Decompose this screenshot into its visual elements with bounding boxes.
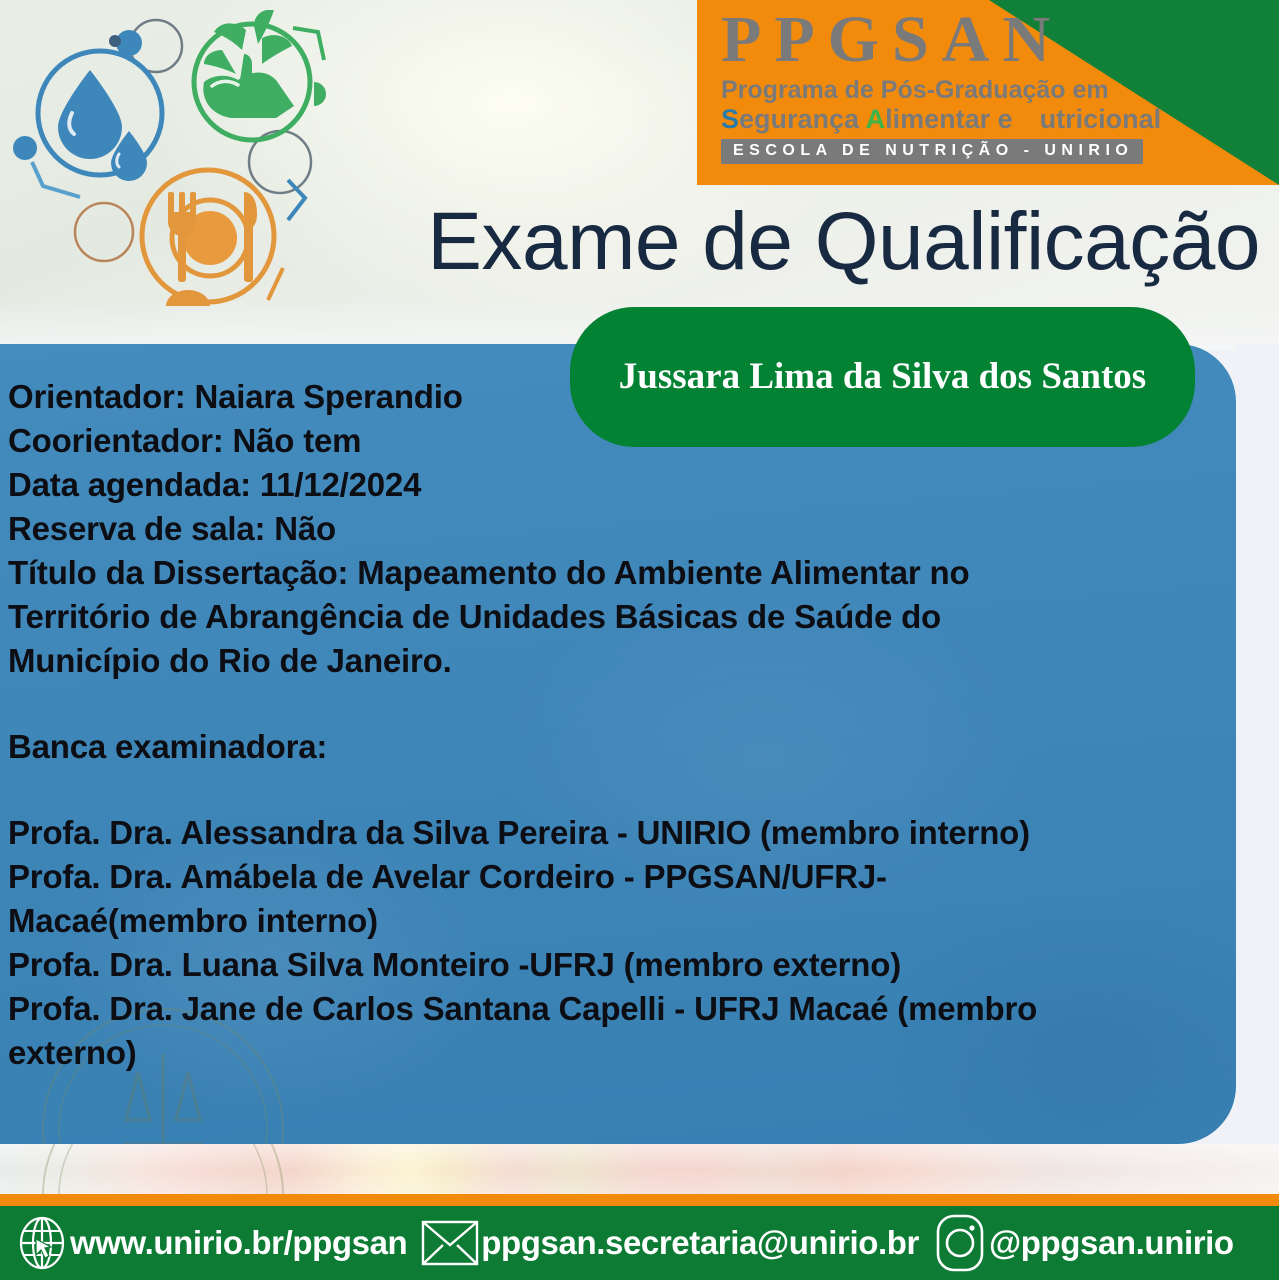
logo-text-nutricional: utricional — [1040, 104, 1162, 134]
footer-bar: www.unirio.br/ppgsan ppgsan.secretaria@u… — [0, 1206, 1279, 1280]
ppgsan-logo-inner: PPGSAN Programa de Pós-Graduação em Segu… — [721, 4, 1141, 164]
footer-website-text: www.unirio.br/ppgsan — [70, 1224, 407, 1262]
envelope-icon — [419, 1216, 481, 1270]
water-drop-icon — [38, 51, 162, 181]
footer-email-item[interactable]: ppgsan.secretaria@unirio.br — [419, 1216, 919, 1270]
detail-coorientador: Coorientador: Não tem — [8, 419, 1048, 463]
logo-letter-n-hidden: N — [1020, 104, 1040, 134]
decor-dot-2 — [109, 35, 121, 47]
logo-text-seguranca: egurança — [739, 104, 866, 134]
plate-cutlery-icon — [142, 170, 274, 306]
details-block: Orientador: Naiara Sperandio Coorientado… — [8, 375, 1048, 1075]
ppgsan-escola-bar: ESCOLA DE NUTRIÇÃO - UNIRIO — [721, 139, 1143, 164]
logo-letter-a: A — [866, 104, 886, 134]
detail-reserva-sala: Reserva de sala: Não — [8, 507, 1048, 551]
detail-data-agendada: Data agendada: 11/12/2024 — [8, 463, 1048, 507]
text-spacer-1 — [8, 683, 1048, 725]
footer-email-text: ppgsan.secretaria@unirio.br — [481, 1224, 919, 1262]
ppgsan-tagline-line1: Programa de Pós-Graduação em — [721, 76, 1141, 104]
footer-instagram-item[interactable]: @ppgsan.unirio — [931, 1212, 1234, 1274]
banca-heading: Banca examinadora: — [8, 725, 1048, 769]
logo-text-alimentar: limentar e — [885, 104, 1020, 134]
sustainability-icon-cluster — [8, 10, 378, 330]
ppgsan-acronym: PPGSAN — [721, 4, 1141, 76]
instagram-icon — [931, 1212, 989, 1274]
footer-orange-rule — [0, 1194, 1279, 1206]
banca-member-2: Profa. Dra. Amábela de Avelar Cordeiro -… — [8, 855, 1048, 943]
page-title: Exame de Qualificação — [380, 196, 1260, 288]
globe-icon — [14, 1215, 70, 1271]
decor-line-2 — [288, 180, 305, 220]
footer-website-item[interactable]: www.unirio.br/ppgsan — [14, 1215, 407, 1271]
hand-plant-icon — [194, 10, 310, 140]
banca-member-3: Profa. Dra. Luana Silva Monteiro -UFRJ (… — [8, 943, 1048, 987]
ppgsan-logo: PPGSAN Programa de Pós-Graduação em Segu… — [697, 0, 1279, 185]
banca-member-1: Profa. Dra. Alessandra da Silva Pereira … — [8, 811, 1048, 855]
detail-orientador: Orientador: Naiara Sperandio — [8, 375, 1048, 419]
text-spacer-2 — [8, 769, 1048, 811]
icon-cluster-svg — [8, 10, 378, 330]
footer-instagram-text: @ppgsan.unirio — [989, 1224, 1234, 1262]
logo-letter-s: S — [721, 104, 739, 134]
decor-line-3 — [268, 268, 283, 300]
panel-right-gutter — [1236, 344, 1279, 1144]
poster-canvas: PPGSAN Programa de Pós-Graduação em Segu… — [0, 0, 1279, 1280]
decor-ring-3 — [75, 203, 133, 261]
ppgsan-tagline-line2: Segurança Alimentar e Nutricional — [721, 104, 1141, 134]
decor-dot-3 — [13, 136, 37, 160]
banca-member-4: Profa. Dra. Jane de Carlos Santana Capel… — [8, 987, 1048, 1075]
decor-wedge — [314, 82, 326, 106]
detail-titulo-dissertacao: Título da Dissertação: Mapeamento do Amb… — [8, 551, 1048, 683]
